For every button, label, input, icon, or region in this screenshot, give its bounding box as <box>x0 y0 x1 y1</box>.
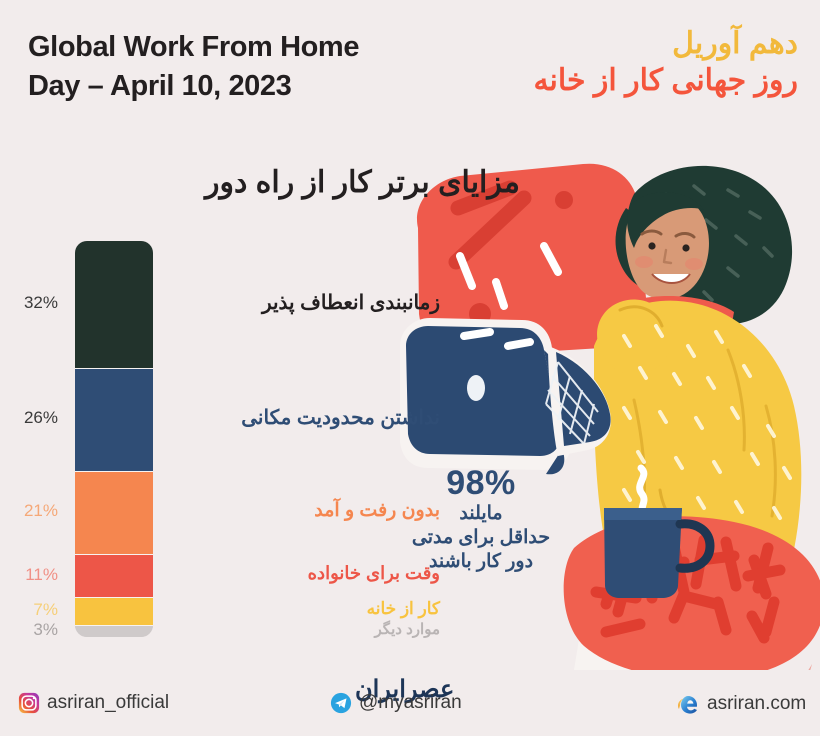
segment-label: موارد دیگر <box>160 620 440 638</box>
telegram-handle: @myasriran <box>359 692 462 714</box>
statistic-block: 98% مایلند حداقل برای مدتی دور کار باشند <box>381 466 581 575</box>
segment-label: نداشتن محدودیت مکانی <box>160 405 440 430</box>
bar-segment <box>75 597 153 625</box>
blanket-red <box>560 516 820 670</box>
bar-segment <box>75 554 153 598</box>
footer-bar: asriran_official @myasriran <box>0 674 820 736</box>
work-from-home-illustration <box>398 150 820 670</box>
bar-segment <box>75 241 153 368</box>
segment-percentage: 26% <box>24 408 58 428</box>
statistic-line-3: دور کار باشند <box>381 550 581 574</box>
persian-title-line-1: دهم آوریل <box>398 26 798 63</box>
website-url: asriran.com <box>707 693 806 715</box>
segment-label: کار از خانه <box>160 599 440 619</box>
instagram-link[interactable]: asriran_official <box>18 692 169 714</box>
statistic-number: 98% <box>381 466 581 502</box>
instagram-handle: asriran_official <box>47 692 169 714</box>
category-labels-column: زمانبندی انعطاف پذیرنداشتن محدودیت مکانی… <box>160 241 440 637</box>
statistic-line-2: حداقل برای مدتی <box>381 526 581 550</box>
segment-percentage: 21% <box>24 501 58 521</box>
statistic-line-1: مایلند <box>381 502 581 526</box>
internet-explorer-icon <box>676 692 700 716</box>
title-line-1: Global Work From Home <box>28 31 359 63</box>
bar-segment <box>75 368 153 471</box>
stacked-bar-chart <box>75 241 153 637</box>
website-link[interactable]: asriran.com <box>676 692 806 716</box>
telegram-link[interactable]: @myasriran <box>330 692 462 714</box>
title-line-2: Day – April 10, 2023 <box>28 70 291 102</box>
persian-title-line-2: روز جهانی کار از خانه <box>398 63 798 100</box>
segment-label: زمانبندی انعطاف پذیر <box>160 290 440 315</box>
percentage-labels-column: 32%26%21%11%7%3% <box>0 241 66 637</box>
chart-title: مزایای برتر کار از راه دور <box>205 165 520 200</box>
page-title-persian: دهم آوریل روز جهانی کار از خانه <box>398 26 798 99</box>
bar-segment <box>75 471 153 554</box>
instagram-icon <box>18 692 40 714</box>
segment-percentage: 32% <box>24 293 58 313</box>
telegram-icon <box>330 692 352 714</box>
bar-segment <box>75 625 153 637</box>
segment-percentage: 3% <box>33 620 58 640</box>
segment-percentage: 11% <box>25 565 58 585</box>
infographic-canvas: Global Work From Home Day – April 10, 20… <box>0 0 820 736</box>
segment-percentage: 7% <box>33 600 58 620</box>
steam <box>640 468 644 514</box>
